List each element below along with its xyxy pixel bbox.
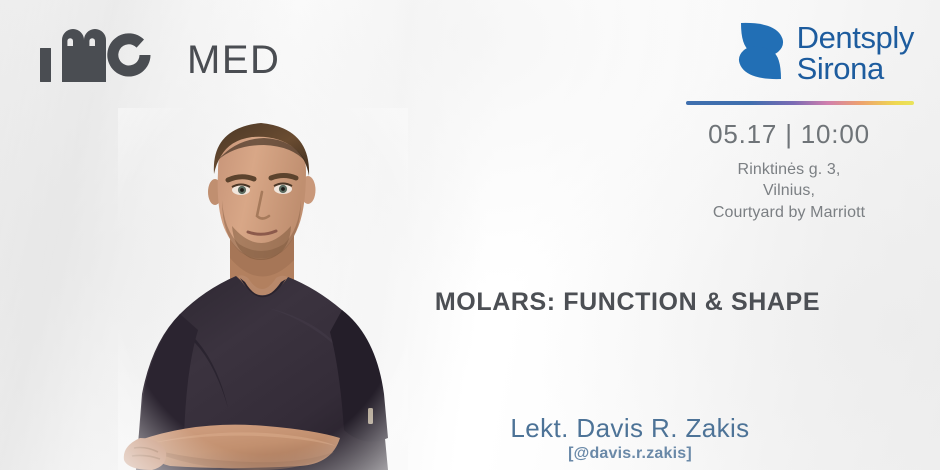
lecturer-block: Lekt. Davis R. Zakis [@davis.r.zakis] xyxy=(350,415,910,463)
lecturer-name: Lekt. Davis R. Zakis xyxy=(350,415,910,442)
address-line-2: Vilnius, xyxy=(664,180,914,201)
address-line-3: Courtyard by Marriott xyxy=(664,202,914,223)
event-title: MOLARS: FUNCTION & SHAPE xyxy=(350,288,905,317)
event-poster: MED Dentsply Sirona 05.17 | 10:00 Rinkti… xyxy=(0,0,940,470)
mo-med-logo: MED xyxy=(40,26,280,87)
event-address: Rinktinės g. 3, Vilnius, Courtyard by Ma… xyxy=(664,159,914,223)
dentsply-sirona-s-mark-icon xyxy=(737,20,785,87)
dentsply-sirona-block: Dentsply Sirona 05.17 | 10:00 Rinktinės … xyxy=(664,20,914,223)
event-datetime: 05.17 | 10:00 xyxy=(664,119,914,150)
gradient-rule xyxy=(686,101,914,105)
sirona-word: Sirona xyxy=(797,54,914,84)
lecturer-handle: [@davis.r.zakis] xyxy=(350,445,910,463)
logo-wordmark: MED xyxy=(187,40,280,80)
dentsply-sirona-logo: Dentsply Sirona xyxy=(664,20,914,87)
dentsply-word: Dentsply xyxy=(797,20,914,55)
address-line-1: Rinktinės g. 3, xyxy=(664,159,914,180)
mo-monogram-logo-icon xyxy=(40,26,175,87)
dentsply-sirona-wordmark: Dentsply Sirona xyxy=(797,23,914,84)
